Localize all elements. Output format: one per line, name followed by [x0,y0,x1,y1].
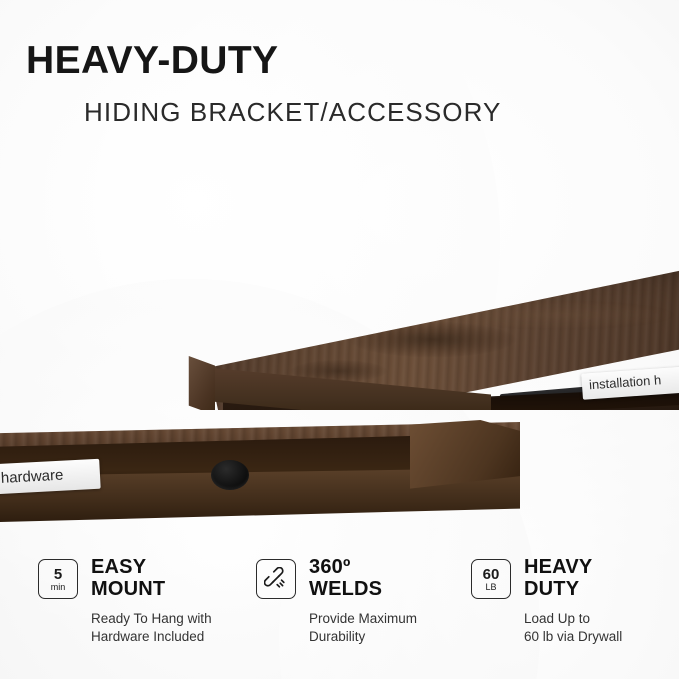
five-minute-badge-number: 5 [54,567,62,582]
mounting-hole-icon [211,460,249,490]
feature-360-welds-description: Provide Maximum Durability [309,610,469,646]
installation-hardware-label-bottom-text: on hardware [0,467,64,488]
feature-360-welds-title: 360º WELDS [309,556,382,601]
feature-easy-mount-desc-line1: Ready To Hang with [91,610,251,628]
sixty-pound-badge-icon: 60 LB [471,559,511,599]
feature-easy-mount-description: Ready To Hang with Hardware Included [91,610,251,646]
product-photo-bottom: on hardware [0,400,679,540]
chain-link-icon-glyph [264,567,288,591]
installation-hardware-label-top-text: installation h [588,372,661,392]
headline-title: HEAVY-DUTY [26,41,278,80]
product-listing-image: HEAVY-DUTY HIDING BRACKET/ACCESSORY inst… [0,0,679,679]
feature-360-welds-desc-line2: Durability [309,628,469,646]
product-photo-top: installation h [0,130,679,410]
feature-heavy-duty-description: Load Up to 60 lb via Drywall [524,610,679,646]
five-minute-badge-icon: 5 min [38,559,78,599]
feature-heavy-duty-title-line1: HEAVY [524,556,592,578]
feature-easy-mount-title: EASY MOUNT [91,556,165,601]
feature-easy-mount-title-line2: MOUNT [91,578,165,600]
feature-heavy-duty-title-line2: DUTY [524,578,592,600]
feature-360-welds-desc-line1: Provide Maximum [309,610,469,628]
sixty-pound-badge-number: 60 [483,567,500,582]
feature-heavy-duty-desc-line1: Load Up to [524,610,679,628]
sixty-pound-badge-unit: LB [485,583,496,592]
chain-link-weld-icon [256,559,296,599]
feature-360-welds-title-line2: WELDS [309,578,382,600]
feature-easy-mount-desc-line2: Hardware Included [91,628,251,646]
feature-heavy-duty-desc-line2: 60 lb via Drywall [524,628,679,646]
five-minute-badge-unit: min [51,583,66,592]
feature-easy-mount-title-line1: EASY [91,556,165,578]
shelf-closeup-board: on hardware [0,422,520,522]
feature-row: 5 min EASY MOUNT Ready To Hang with Hard… [0,552,679,662]
feature-heavy-duty-title: HEAVY DUTY [524,556,592,601]
feature-360-welds-title-line1: 360º [309,556,382,578]
headline-subtitle: HIDING BRACKET/ACCESSORY [84,99,501,125]
